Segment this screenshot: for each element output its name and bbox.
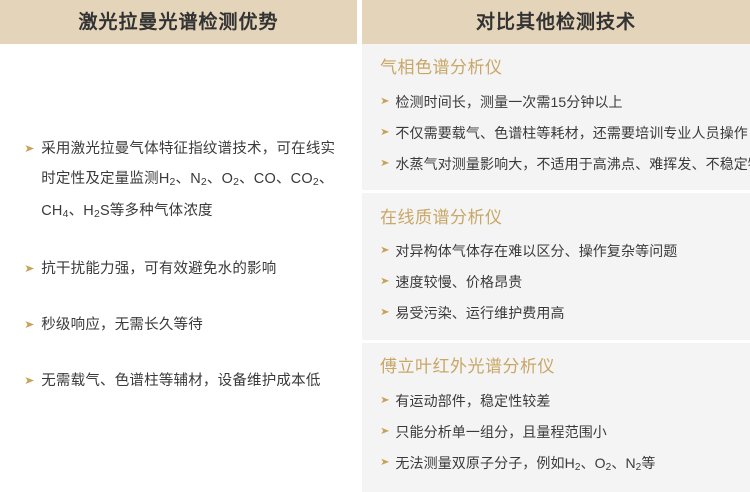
section-mass-spectrometer: 在线质谱分析仪 ➤ 对异构体气体存在难以区分、操作复杂等问题 ➤ 速度较慢、价格…	[362, 190, 750, 339]
advantage-text-4: 无需载气、色谱柱等辅材，设备维护成本低	[41, 366, 320, 396]
section-item-text: 水蒸气对测量影响大，不适用于高沸点、难挥发、不稳定物质分析	[395, 152, 750, 176]
advantage-text-3: 秒级响应，无需长久等待	[41, 310, 203, 340]
section-item-text: 对异构体气体存在难以区分、操作复杂等问题	[395, 239, 677, 263]
page-title-left: 激光拉曼光谱检测优势	[78, 13, 278, 32]
arrow-right-icon: ➤	[380, 420, 390, 444]
list-item: ➤ 秒级响应，无需长久等待	[24, 310, 339, 340]
arrow-right-icon: ➤	[24, 366, 35, 396]
arrow-right-icon: ➤	[380, 121, 390, 145]
list-item: ➤ 对异构体气体存在难以区分、操作复杂等问题	[380, 239, 740, 263]
list-item: ➤ 采用激光拉曼气体特征指纹谱技术，可在线实时定性及定量监测H2、N2、O2、C…	[24, 134, 339, 228]
arrow-right-icon: ➤	[380, 90, 390, 114]
section-item-text-ftir-3: 无法测量双原子分子，例如H2、O2、N2等	[395, 451, 655, 478]
header-band: 激光拉曼光谱检测优势 对比其他检测技术	[0, 0, 750, 44]
list-item: ➤ 有运动部件，稳定性较差	[380, 389, 740, 413]
section-item-text: 易受污染、运行维护费用高	[395, 301, 564, 325]
section-item-text: 检测时间长，测量一次需15分钟以上	[395, 90, 622, 114]
arrow-right-icon: ➤	[380, 239, 390, 263]
arrow-right-icon: ➤	[24, 310, 35, 340]
comparison-infographic: 激光拉曼光谱检测优势 对比其他检测技术 ➤ 采用激光拉曼气体特征指纹谱技术，可在…	[0, 0, 750, 492]
comparison-column: 气相色谱分析仪 ➤ 检测时间长，测量一次需15分钟以上 ➤ 不仅需要载气、色谱柱…	[362, 44, 750, 492]
section-list: ➤ 有运动部件，稳定性较差 ➤ 只能分析单一组分，且量程范围小 ➤ 无法测量双原…	[380, 389, 740, 478]
advantages-list: ➤ 采用激光拉曼气体特征指纹谱技术，可在线实时定性及定量监测H2、N2、O2、C…	[0, 134, 357, 396]
section-list: ➤ 对异构体气体存在难以区分、操作复杂等问题 ➤ 速度较慢、价格昂贵 ➤ 易受污…	[380, 239, 740, 325]
section-ftir-spectrometer: 傅立叶红外光谱分析仪 ➤ 有运动部件，稳定性较差 ➤ 只能分析单一组分，且量程范…	[362, 340, 750, 492]
page-title-right: 对比其他检测技术	[476, 13, 636, 32]
section-item-text: 只能分析单一组分，且量程范围小	[395, 420, 607, 444]
list-item: ➤ 只能分析单一组分，且量程范围小	[380, 420, 740, 444]
arrow-right-icon: ➤	[24, 254, 35, 284]
section-title: 傅立叶红外光谱分析仪	[380, 357, 740, 377]
list-item: ➤ 易受污染、运行维护费用高	[380, 301, 740, 325]
list-item: ➤ 无法测量双原子分子，例如H2、O2、N2等	[380, 451, 740, 478]
section-item-text: 速度较慢、价格昂贵	[395, 270, 522, 294]
advantages-column: ➤ 采用激光拉曼气体特征指纹谱技术，可在线实时定性及定量监测H2、N2、O2、C…	[0, 44, 357, 492]
arrow-right-icon: ➤	[380, 389, 390, 413]
list-item: ➤ 无需载气、色谱柱等辅材，设备维护成本低	[24, 366, 339, 396]
section-gas-chromatograph: 气相色谱分析仪 ➤ 检测时间长，测量一次需15分钟以上 ➤ 不仅需要载气、色谱柱…	[362, 44, 750, 190]
list-item: ➤ 不仅需要载气、色谱柱等耗材，还需要培训专业人员操作	[380, 121, 740, 145]
list-item: ➤ 速度较慢、价格昂贵	[380, 270, 740, 294]
arrow-right-icon: ➤	[380, 152, 390, 176]
body-area: ➤ 采用激光拉曼气体特征指纹谱技术，可在线实时定性及定量监测H2、N2、O2、C…	[0, 44, 750, 492]
section-title: 气相色谱分析仪	[380, 58, 740, 78]
advantage-text-2: 抗干扰能力强，可有效避免水的影响	[41, 254, 276, 284]
header-cell-advantages: 激光拉曼光谱检测优势	[0, 0, 357, 44]
arrow-right-icon: ➤	[24, 134, 35, 164]
arrow-right-icon: ➤	[380, 301, 390, 325]
section-list: ➤ 检测时间长，测量一次需15分钟以上 ➤ 不仅需要载气、色谱柱等耗材，还需要培…	[380, 90, 740, 176]
advantage-text-1: 采用激光拉曼气体特征指纹谱技术，可在线实时定性及定量监测H2、N2、O2、CO、…	[41, 134, 339, 228]
list-item: ➤ 抗干扰能力强，可有效避免水的影响	[24, 254, 339, 284]
section-title: 在线质谱分析仪	[380, 208, 740, 228]
arrow-right-icon: ➤	[380, 451, 390, 475]
header-cell-comparison: 对比其他检测技术	[362, 0, 750, 44]
list-item: ➤ 水蒸气对测量影响大，不适用于高沸点、难挥发、不稳定物质分析	[380, 152, 740, 176]
section-item-text: 不仅需要载气、色谱柱等耗材，还需要培训专业人员操作	[395, 121, 748, 145]
list-item: ➤ 检测时间长，测量一次需15分钟以上	[380, 90, 740, 114]
section-item-text: 有运动部件，稳定性较差	[395, 389, 550, 413]
arrow-right-icon: ➤	[380, 270, 390, 294]
